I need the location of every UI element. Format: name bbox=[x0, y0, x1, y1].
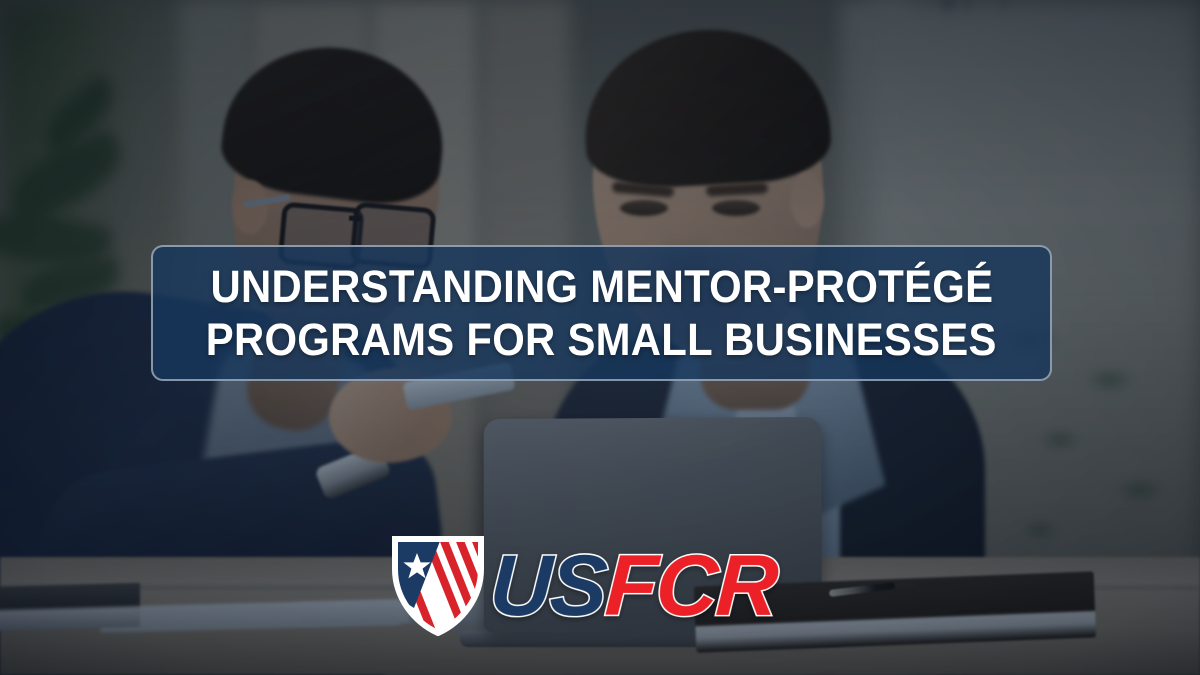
us-flag-shield-icon bbox=[392, 536, 484, 636]
usfcr-logo[interactable]: USFCR bbox=[392, 534, 808, 638]
hero-banner: UNDERSTANDING MENTOR-PROTÉGÉ PROGRAMS FO… bbox=[0, 0, 1200, 675]
title-card: UNDERSTANDING MENTOR-PROTÉGÉ PROGRAMS FO… bbox=[151, 245, 1052, 381]
title-line-1: UNDERSTANDING MENTOR-PROTÉGÉ bbox=[210, 260, 993, 313]
usfcr-wordmark: USFCR bbox=[488, 543, 779, 629]
title-line-2: PROGRAMS FOR SMALL BUSINESSES bbox=[206, 313, 997, 366]
logo-word-us: US bbox=[487, 538, 607, 634]
logo-word-fcr: FCR bbox=[603, 538, 779, 634]
